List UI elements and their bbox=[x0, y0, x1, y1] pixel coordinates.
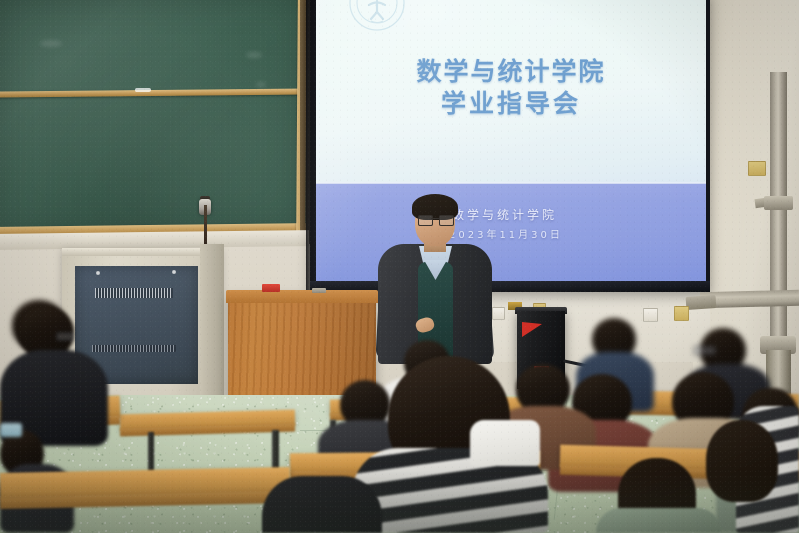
slide-title-line2: 学业指导会 bbox=[316, 88, 706, 120]
blackboard bbox=[0, 0, 306, 234]
projection-screen: 数学与统计学院 学业指导会 数学与统计学院 2023年11月30日 bbox=[316, 0, 706, 282]
cabinet-side-panel bbox=[200, 244, 224, 414]
slide-date: 2023年11月30日 bbox=[449, 226, 563, 241]
slide-title-line1: 数学与统计学院 bbox=[316, 56, 706, 88]
microphone-stem bbox=[204, 205, 207, 249]
chalk-piece bbox=[135, 88, 151, 92]
air-vent-lower bbox=[92, 345, 176, 352]
glasses-icon bbox=[418, 215, 452, 224]
chalk-smudge bbox=[40, 40, 62, 47]
cabinet-screw bbox=[172, 270, 176, 274]
classroom-photo: 数学与统计学院 学业指导会 数学与统计学院 2023年11月30日 bbox=[0, 0, 799, 533]
pa-speaker-badge bbox=[522, 322, 542, 337]
face-mask bbox=[0, 423, 22, 437]
pipe-sign-plate bbox=[748, 161, 766, 176]
wall-plate-white-left bbox=[492, 307, 505, 320]
air-vent-upper bbox=[95, 288, 173, 298]
horizontal-pipe-stub bbox=[686, 295, 717, 310]
screen-left-edge bbox=[306, 0, 316, 292]
slide-subtitle: 数学与统计学院 bbox=[452, 206, 557, 223]
university-seal-logo bbox=[348, 0, 406, 32]
slide-title: 数学与统计学院 学业指导会 bbox=[316, 56, 706, 120]
glasses-icon bbox=[694, 346, 716, 355]
wall-plate-white-right bbox=[643, 308, 658, 322]
lectern-top-surface bbox=[226, 290, 378, 303]
cabinet-screw bbox=[96, 271, 100, 275]
chalk-smudge bbox=[256, 82, 266, 87]
foreground-shadow bbox=[0, 470, 799, 533]
glasses-icon bbox=[56, 332, 74, 341]
pipe-joint bbox=[764, 196, 793, 210]
vertical-pipe bbox=[770, 72, 787, 362]
wall-plate-yellow-right bbox=[674, 306, 689, 321]
cabinet-top-trim bbox=[62, 248, 222, 256]
student-shirt-collar bbox=[470, 420, 540, 466]
lectern-small-object bbox=[312, 288, 326, 293]
chalk-smudge bbox=[246, 52, 262, 58]
blackboard-texture bbox=[0, 0, 306, 234]
lectern-red-object bbox=[262, 284, 280, 292]
